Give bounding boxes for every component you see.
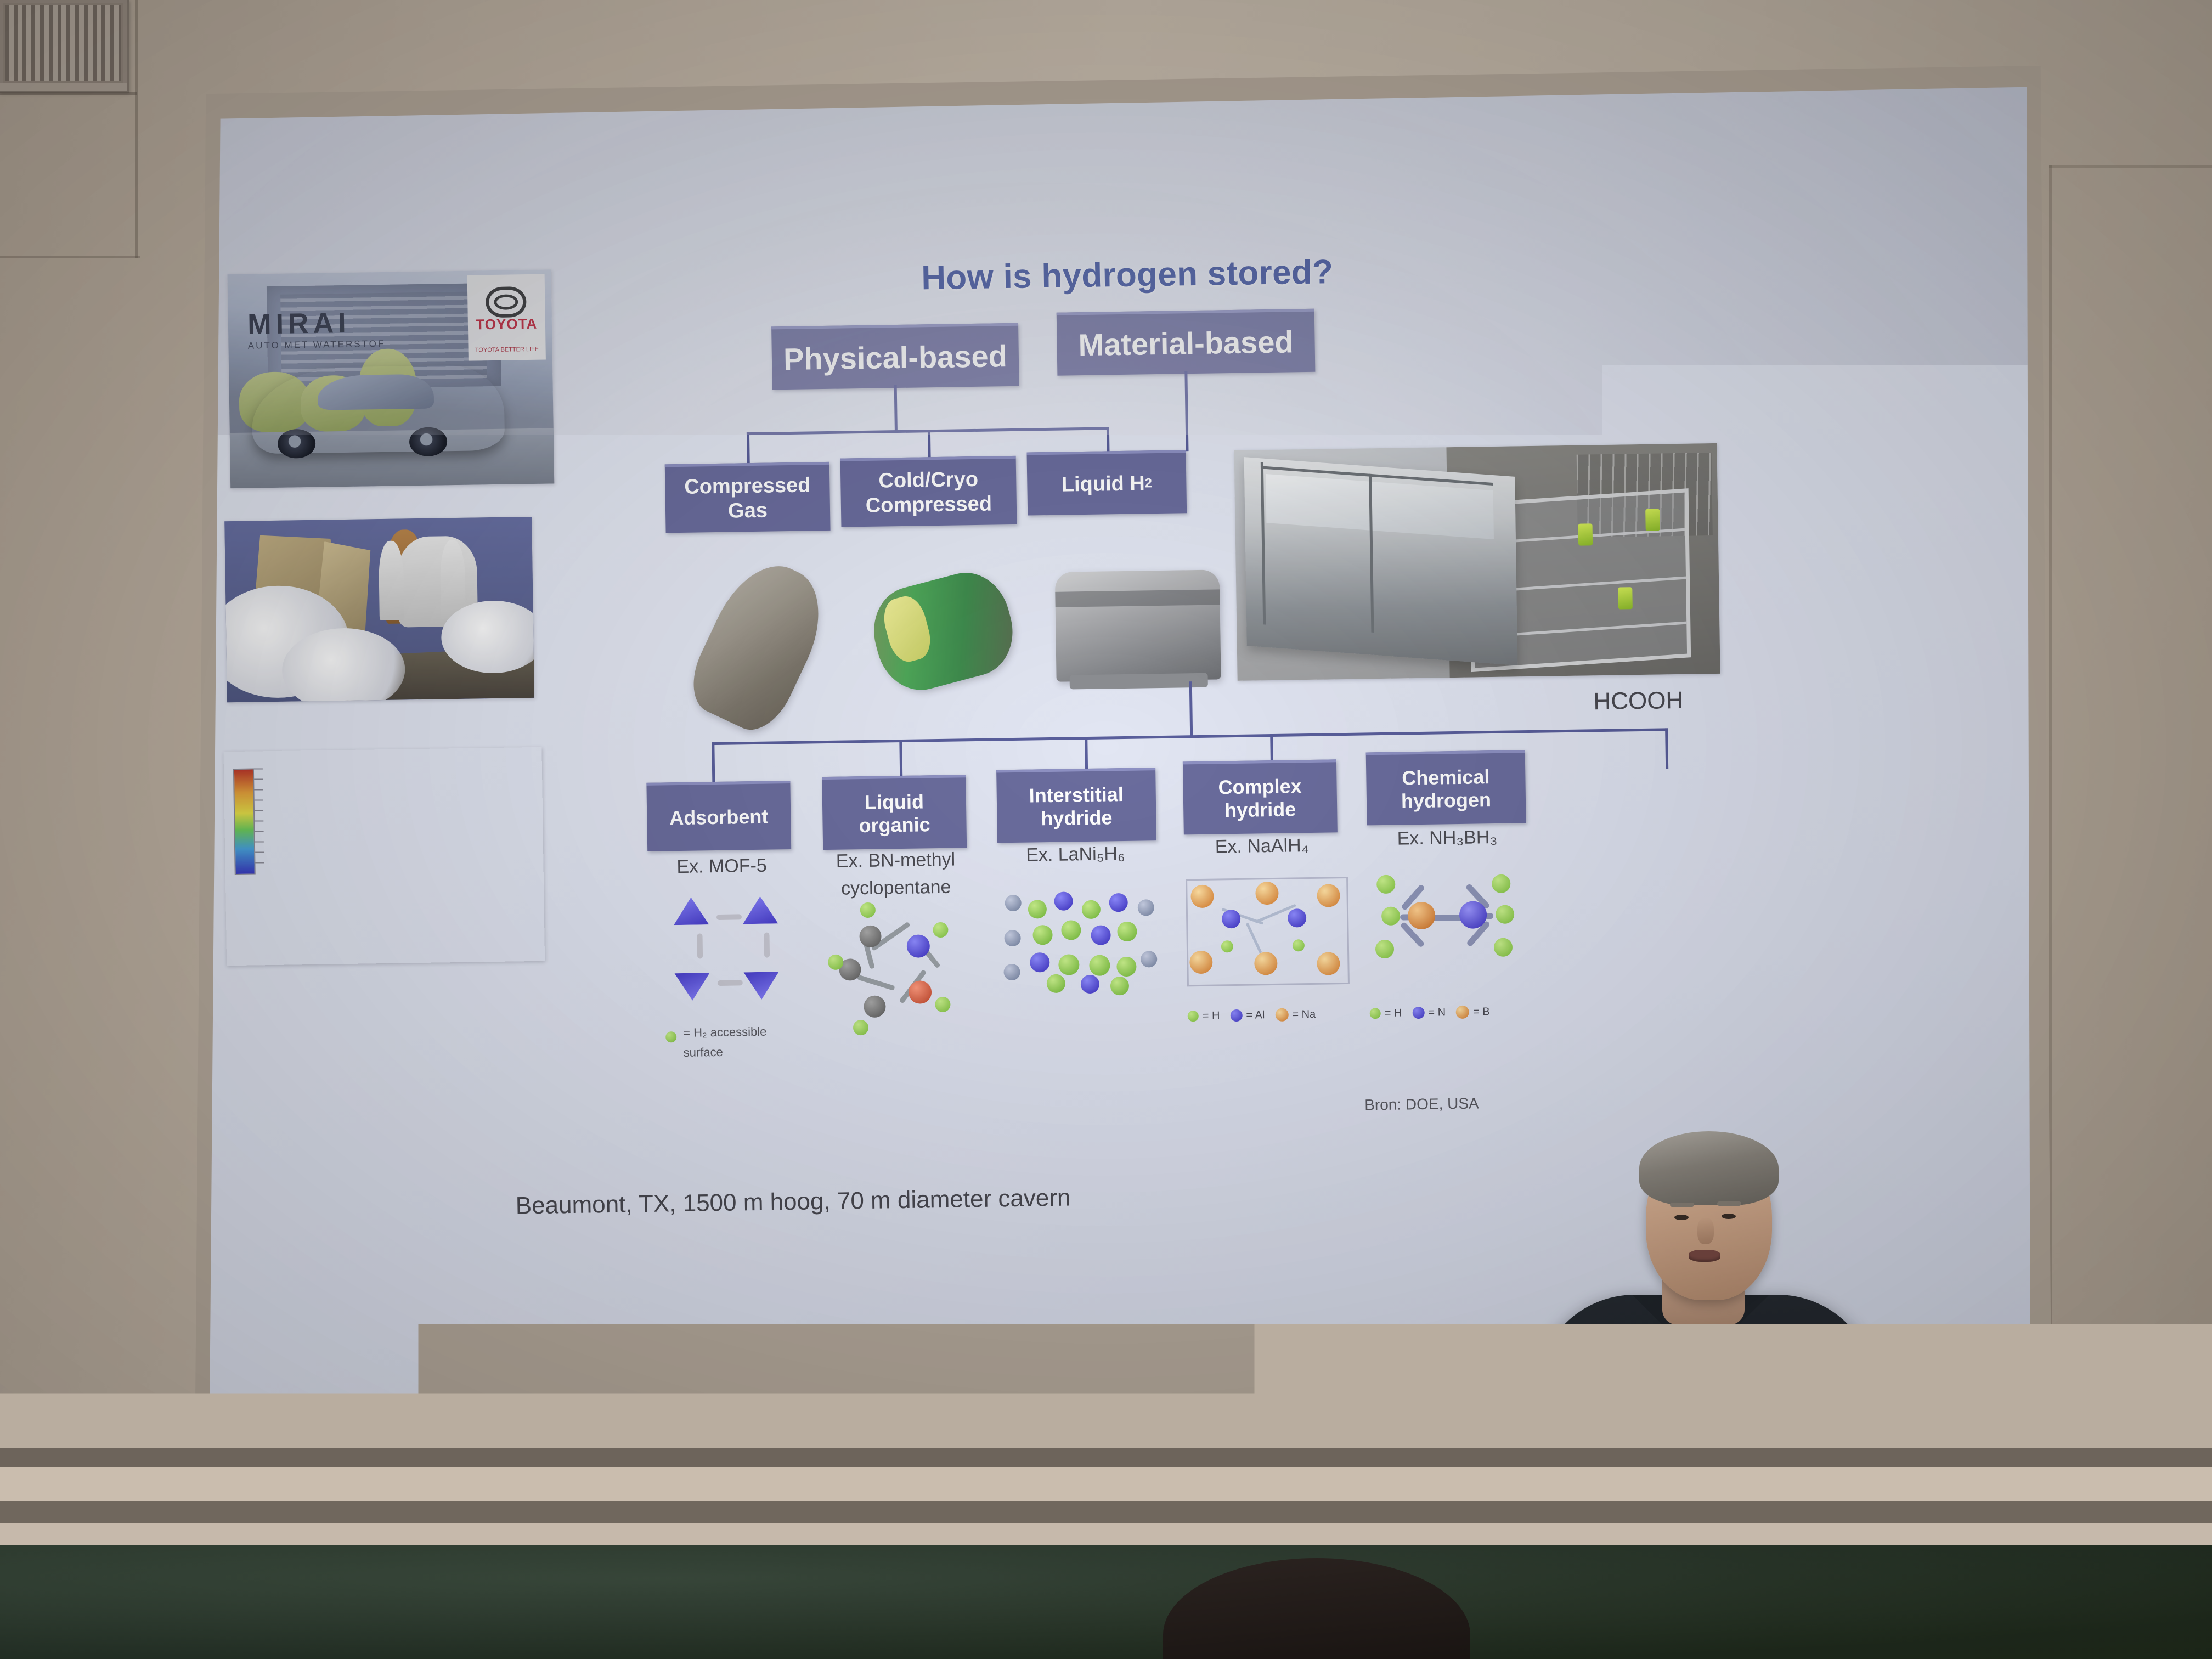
lani-h-atom [1116,957,1137,977]
node-line-1: Cold/Cryo [878,467,978,494]
bn-methylcyclopentane-molecule-icon [835,900,974,1039]
node-liquid-h2-subscript: 2 [1145,476,1153,491]
naalh-h-atom [1293,939,1305,951]
naalh-al-atom [1222,910,1241,929]
lani-atom [1141,951,1157,967]
node-cold-cryo-compressed[interactable]: Cold/Cryo Compressed [840,456,1017,527]
lani-atom [1003,964,1020,980]
node-line-1: Adsorbent [669,805,769,830]
lani-h-atom [1058,954,1080,975]
mof5-structure-icon [670,891,792,1019]
lani-ni-atom [1091,925,1111,945]
lani-h-atom [1028,900,1047,919]
atom-h-1 [860,902,876,918]
legend-al-label: = Al [1246,1009,1265,1022]
screenshot-root: How is hydrogen stored? MIRAI AUTO MET W… [0,0,2212,1659]
slide-title: How is hydrogen stored? [798,251,1457,300]
lani-h-atom [1061,920,1081,940]
connector-physical-a [747,432,750,464]
example-cyclopentane: cyclopentane [814,876,979,900]
lani-h-atom [1032,925,1053,945]
atom-b [909,980,932,1004]
mof-tetra-2 [742,896,778,932]
naalh-na-atom [1317,884,1340,907]
tank-band [1055,589,1220,607]
nh3bh3-b-atom [1408,902,1436,930]
node-compressed-gas[interactable]: Compressed Gas [665,462,831,533]
mirai-wordmark: MIRAI [247,307,351,341]
node-line-2: Gas [728,499,768,524]
car-windshield [317,374,434,410]
bus-windows [1266,473,1494,539]
node-line-1: Interstitial [1029,783,1124,808]
nh3bh3-h-atom [1381,907,1401,926]
node-line-2: hydrogen [1401,788,1492,813]
scale-marker [500,944,519,956]
naalh-h-atom [1221,940,1233,952]
lani-atom [1005,895,1021,911]
mof-linker-4 [764,933,770,958]
bottom-caption: Beaumont, TX, 1500 m hoog, 70 m diameter… [515,1180,1339,1221]
solid-rocket-booster-right [440,539,466,619]
node-line-1: Compressed [684,473,811,500]
nh3bh3-h-atom [1492,874,1511,894]
colorbar [233,769,256,876]
node-complex-hydride[interactable]: Complex hydride [1183,759,1338,834]
hiviz-worker-1 [1578,523,1593,545]
example-lani5h6: Ex. LaNi₅H₆ [993,842,1158,867]
vent-louvers [3,3,123,83]
mof-linker-3 [697,933,703,958]
naalh-na-atom [1254,952,1278,975]
connector-material-b [899,740,902,780]
audience-glasses-icon [1728,1564,1843,1624]
legend-n-dot [1412,1007,1424,1019]
lani-h-atom [1047,974,1066,994]
scaffold-bar-1 [1260,462,1265,625]
lani-ni-atom [1109,893,1128,912]
hcooh-label: HCOOH [1539,685,1737,717]
toyota-mirai-photo: MIRAI AUTO MET WATERSTOF TOYOTA TOYOTA B… [228,269,555,488]
wall-seam-lower [0,256,140,258]
nh3bh3-structure-icon [1368,871,1522,966]
salt-cavern-3d-plot [223,747,545,966]
presenter-mouth [1689,1250,1720,1262]
legend-al-dot [1230,1009,1242,1022]
example-bn-methyl: Ex. BN-methyl [813,848,978,873]
node-line-2: hydride [1224,798,1296,822]
wall-panel-edge-horizontal [2049,165,2212,168]
presenter-shirt-button [1691,1363,1698,1370]
lani-h-atom [1117,922,1137,942]
presenter-hair [1639,1131,1779,1205]
wall-seam-vertical [135,0,138,258]
node-line-2: organic [859,813,930,837]
node-liquid-h2[interactable]: Liquid H2 [1027,450,1187,515]
atom-h-2 [933,922,948,938]
atom-h-4 [853,1020,868,1035]
legend-na-label: = Na [1292,1008,1316,1021]
connector-material-bus [712,728,1666,745]
mof-linker-1 [716,914,742,920]
connector-physical-stem [894,385,898,431]
example-nh3bh3: Ex. NH₃BH₃ [1365,826,1530,850]
connector-material-stem-top [1184,371,1188,451]
atom-h-3 [935,997,950,1012]
naalh-na-atom [1255,882,1279,905]
ceiling-vent-icon [0,0,129,93]
node-adsorbent[interactable]: Adsorbent [646,781,791,851]
legend-h-dot [1370,1008,1381,1019]
tank-feet [1070,673,1208,690]
presenter-nose [1697,1218,1714,1244]
legend-h-label: = H [1385,1007,1402,1019]
lani5h6-structure-icon [999,885,1165,997]
vent-lip [0,83,127,91]
presenter-brow-left [1670,1203,1694,1207]
mof-legend-line2: surface [683,1043,820,1060]
node-line-2: hydride [1041,806,1113,830]
nh3bh3-h-atom [1375,940,1395,959]
legend-na-dot [1275,1008,1288,1022]
lani-atom [1004,930,1020,946]
node-chemical-hydrogen[interactable]: Chemical hydrogen [1366,750,1526,825]
hiviz-worker-2 [1646,509,1661,531]
nh3bh3-legend: = H = N = B [1370,1005,1490,1020]
mof-tetra-1 [673,897,709,933]
node-line-1: Liquid [865,790,924,814]
naalh-na-atom [1190,885,1214,909]
toyota-logo-icon [486,286,527,318]
node-line-2: Compressed [865,492,992,518]
example-naalh4: Ex. NaAlH₄ [1180,834,1345,859]
atom-c-2 [864,995,886,1018]
node-interstitial-hydride[interactable]: Interstitial hydride [996,768,1156,843]
node-line-1: Complex [1218,775,1302,799]
hydrogen-bus-photo [1234,443,1720,681]
toyota-brand-text: TOYOTA [467,315,545,333]
node-liquid-organic[interactable]: Liquid organic [822,775,967,850]
mof-linker-2 [718,980,743,986]
lani-ni-atom [1030,952,1050,973]
connector-material-a [712,742,715,783]
naalh-al-atom [1288,909,1307,928]
space-shuttle-photo [224,517,534,702]
presenter-eye-left [1674,1215,1689,1220]
legend-n-label: = N [1428,1006,1446,1019]
bus-body [1244,457,1517,665]
lani-ni-atom [1081,975,1100,994]
hiviz-worker-3 [1618,588,1633,610]
legend-h-dot [1188,1011,1199,1022]
lani-atom [1138,899,1154,916]
naalh-bond-3 [1246,923,1262,954]
toyota-sign: TOYOTA TOYOTA BETTER LIFE [467,274,546,360]
mof-tetra-4 [743,964,779,1000]
node-line-1: Chemical [1402,765,1490,790]
compressed-gas-cylinder-icon [680,550,839,741]
legend-h-label: = H [1203,1009,1220,1022]
mirai-tagline: AUTO MET WATERSTOF [248,338,386,352]
node-liquid-h2-label: Liquid H [1062,471,1145,497]
naalh-na-atom [1317,952,1340,975]
connector-material-e [1665,728,1668,769]
nh3bh3-h-atom [1496,905,1515,924]
lani-h-atom [1082,900,1101,919]
node-material-based[interactable]: Material-based [1057,309,1316,376]
car-wheel-front [409,427,447,456]
mof-tetra-3 [674,965,710,1001]
bond-4 [857,975,895,991]
legend-b-label: = B [1473,1006,1490,1018]
audience-head-right [1761,1448,2019,1659]
lani-h-atom [1089,955,1110,976]
cryo-compressed-vessel-icon [864,563,1023,699]
nh3bh3-h-atom [1376,875,1396,894]
nh3bh3-h-atom [1494,938,1513,957]
naalh4-structure-icon [1186,877,1350,986]
mof-legend-line1: = H₂ accessible [683,1024,842,1041]
naalh4-legend: = H = Al = Na [1188,1008,1316,1023]
toyota-brand-subtext: TOYOTA BETTER LIFE [468,346,546,354]
presenter-eye-right [1722,1214,1736,1219]
legend-b-dot [1456,1006,1469,1019]
solid-rocket-booster-left [379,540,404,620]
node-physical-based[interactable]: Physical-based [771,323,1019,390]
liquid-h2-tank-icon [1055,569,1221,681]
presenter-placket [1689,1333,1697,1437]
lani-ni-atom [1054,891,1073,911]
connector-material-stem-bottom [1189,681,1193,736]
lani-h-atom [1110,977,1130,996]
presenter-brow-right [1717,1201,1741,1206]
wall-seam-horizontal [0,92,137,95]
naalh-na-atom [1189,951,1213,974]
source-note: Bron: DOE, USA [1364,1093,1584,1115]
example-mof5: Ex. MOF-5 [642,854,802,879]
mof-legend-dot [665,1031,676,1042]
